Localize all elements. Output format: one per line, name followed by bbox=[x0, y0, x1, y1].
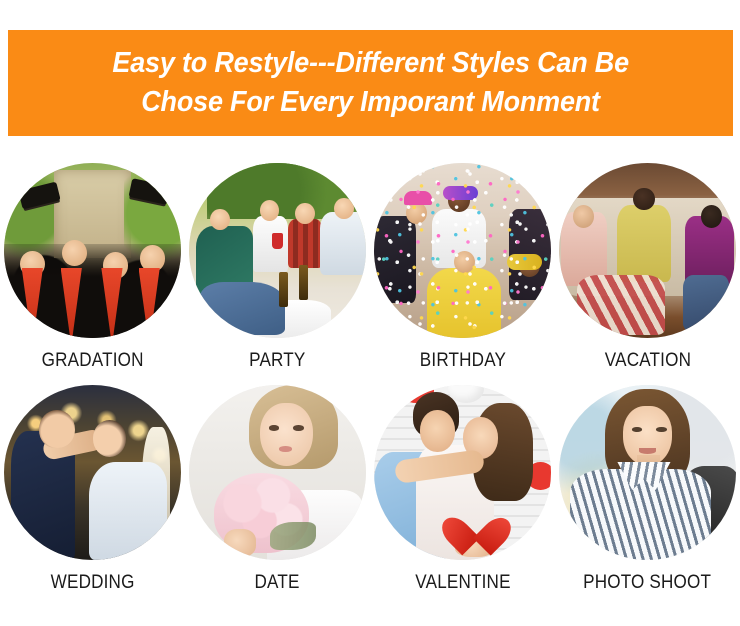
eye bbox=[293, 425, 304, 430]
jeans-shape bbox=[683, 275, 729, 331]
gallery-item-gradation: GRADATION bbox=[0, 150, 185, 372]
promo-banner: Easy to Restyle---Different Styles Can B… bbox=[8, 30, 733, 136]
vacation-photo bbox=[559, 163, 736, 338]
wedding-photo bbox=[4, 385, 181, 560]
red-heart-icon bbox=[455, 501, 497, 543]
gallery-item-valentine: VALENTINE bbox=[370, 372, 555, 594]
caption-valentine: VALENTINE bbox=[415, 572, 510, 594]
birthday-photo bbox=[374, 163, 551, 338]
person-yellow-top bbox=[617, 205, 670, 282]
bottle-icon bbox=[279, 272, 288, 307]
person-plaid-shirt bbox=[288, 219, 322, 268]
striped-legs-shape bbox=[577, 275, 666, 335]
party-photo bbox=[189, 163, 366, 338]
gallery-item-photo-shoot: PHOTO SHOOT bbox=[555, 372, 740, 594]
eye bbox=[269, 425, 280, 430]
gallery-item-party: PARTY bbox=[185, 150, 370, 372]
bouquet-leaves-shape bbox=[270, 522, 316, 550]
student-face bbox=[140, 245, 165, 271]
caption-vacation: VACATION bbox=[604, 350, 690, 372]
caption-gradation: GRADATION bbox=[41, 350, 143, 372]
jeans-shape bbox=[200, 282, 285, 335]
person-white-top bbox=[253, 216, 288, 272]
bride-face bbox=[93, 420, 127, 457]
person-blue-shirt bbox=[320, 212, 366, 275]
hand-shape bbox=[224, 529, 256, 557]
vacation-face bbox=[573, 205, 594, 228]
party-face bbox=[260, 200, 279, 221]
eye bbox=[656, 427, 667, 432]
caption-party: PARTY bbox=[249, 350, 305, 372]
confetti-overlay bbox=[374, 163, 551, 338]
photo-shoot-photo bbox=[559, 385, 736, 560]
bottle-icon bbox=[299, 265, 308, 300]
banner-headline-line-1: Easy to Restyle---Different Styles Can B… bbox=[112, 44, 628, 83]
striped-shirt-shape bbox=[570, 469, 712, 560]
party-scene bbox=[189, 163, 366, 338]
birthday-scene bbox=[374, 163, 551, 338]
lips bbox=[279, 446, 291, 451]
gallery-item-date: DATE bbox=[185, 372, 370, 594]
caption-date: DATE bbox=[255, 572, 300, 594]
gallery-item-wedding: WEDDING bbox=[0, 372, 185, 594]
party-face bbox=[210, 209, 229, 230]
man-face bbox=[420, 410, 455, 452]
gallery-item-birthday: BIRTHDAY bbox=[370, 150, 555, 372]
party-face bbox=[334, 198, 353, 219]
valentine-photo bbox=[374, 385, 551, 560]
vacation-face bbox=[633, 188, 654, 211]
graduation-scene bbox=[4, 163, 181, 338]
wedding-scene bbox=[4, 385, 181, 560]
caption-photo-shoot: PHOTO SHOOT bbox=[583, 572, 711, 594]
eye bbox=[632, 427, 643, 432]
gallery-item-vacation: VACATION bbox=[555, 150, 740, 372]
date-scene bbox=[189, 385, 366, 560]
valentine-scene bbox=[374, 385, 551, 560]
woman-face bbox=[260, 403, 313, 466]
wedding-dress-shape bbox=[89, 462, 167, 560]
red-cup-icon bbox=[272, 233, 283, 249]
occasion-gallery-grid: GRADATION PARTY bbox=[0, 150, 740, 620]
caption-birthday: BIRTHDAY bbox=[419, 350, 505, 372]
vacation-face bbox=[701, 205, 722, 228]
caption-wedding: WEDDING bbox=[51, 572, 135, 594]
studio-portrait-scene bbox=[559, 385, 736, 560]
vacation-scene bbox=[559, 163, 736, 338]
date-photo bbox=[189, 385, 366, 560]
gradation-photo bbox=[4, 163, 181, 338]
banner-headline-line-2: Chose For Every Imporant Monment bbox=[141, 83, 600, 122]
groom-face bbox=[39, 410, 74, 449]
party-face bbox=[295, 203, 314, 224]
